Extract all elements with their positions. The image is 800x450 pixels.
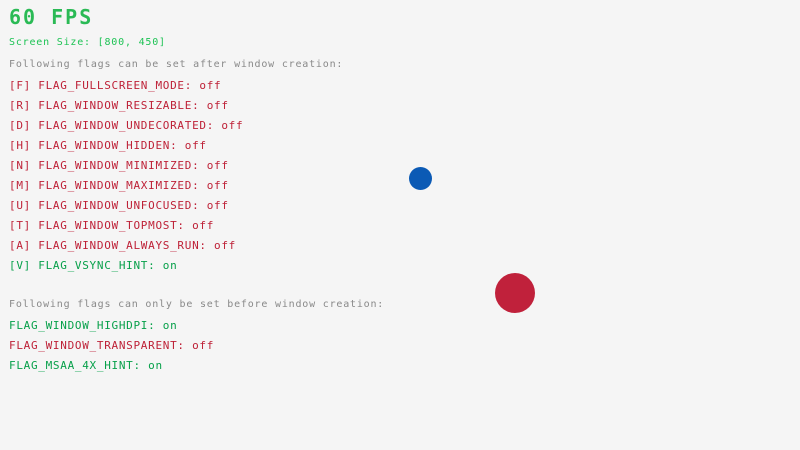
flag-row[interactable]: FLAG_MSAA_4X_HINT: on	[9, 360, 163, 372]
flag-row[interactable]: [A] FLAG_WINDOW_ALWAYS_RUN: off	[9, 240, 236, 252]
blue-ball	[409, 167, 432, 190]
fps-counter: 60 FPS	[9, 7, 93, 27]
before-creation-section-header: Following flags can only be set before w…	[9, 299, 384, 310]
flag-row[interactable]: [H] FLAG_WINDOW_HIDDEN: off	[9, 140, 207, 152]
flag-row[interactable]: [U] FLAG_WINDOW_UNFOCUSED: off	[9, 200, 229, 212]
flag-row[interactable]: [T] FLAG_WINDOW_TOPMOST: off	[9, 220, 214, 232]
flag-row[interactable]: [M] FLAG_WINDOW_MAXIMIZED: off	[9, 180, 229, 192]
screen-size-label: Screen Size: [800, 450]	[9, 37, 166, 48]
flag-row[interactable]: [F] FLAG_FULLSCREEN_MODE: off	[9, 80, 221, 92]
flag-row[interactable]: [R] FLAG_WINDOW_RESIZABLE: off	[9, 100, 229, 112]
flag-row[interactable]: FLAG_WINDOW_TRANSPARENT: off	[9, 340, 214, 352]
red-ball	[495, 273, 535, 313]
raylib-window-canvas: 60 FPS Screen Size: [800, 450] Following…	[0, 0, 800, 450]
flag-row[interactable]: [D] FLAG_WINDOW_UNDECORATED: off	[9, 120, 243, 132]
flag-row[interactable]: [V] FLAG_VSYNC_HINT: on	[9, 260, 177, 272]
flag-row[interactable]: [N] FLAG_WINDOW_MINIMIZED: off	[9, 160, 229, 172]
after-creation-section-header: Following flags can be set after window …	[9, 59, 343, 70]
flag-row[interactable]: FLAG_WINDOW_HIGHDPI: on	[9, 320, 177, 332]
